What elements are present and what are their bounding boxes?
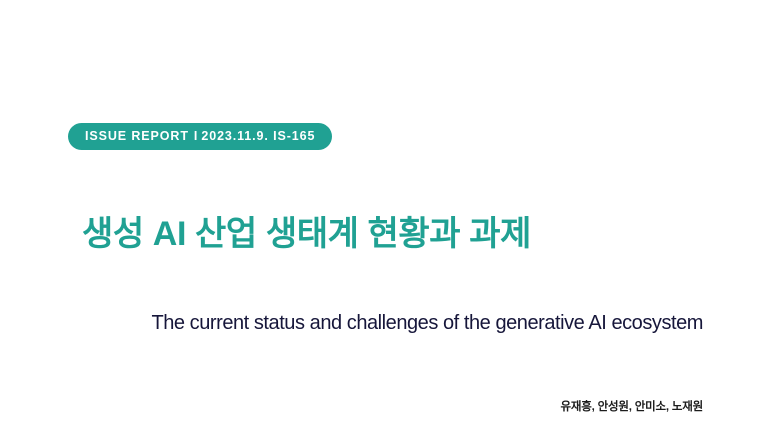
- page-title-korean: 생성 AI 산업 생태계 현황과 과제: [82, 213, 531, 256]
- page-subtitle-english: The current status and challenges of the…: [0, 312, 703, 335]
- report-cover-page: ISSUE REPORT I 2023.11.9. IS-165 생성 AI 산…: [0, 0, 772, 427]
- badge-report-type: ISSUE REPORT: [85, 130, 189, 143]
- authors-line: 유재흥, 안성원, 안미소, 노재원: [0, 398, 703, 414]
- badge-date-and-id: 2023.11.9. IS-165: [201, 130, 315, 143]
- badge-separator: I: [189, 130, 201, 143]
- issue-report-badge: ISSUE REPORT I 2023.11.9. IS-165: [68, 123, 332, 150]
